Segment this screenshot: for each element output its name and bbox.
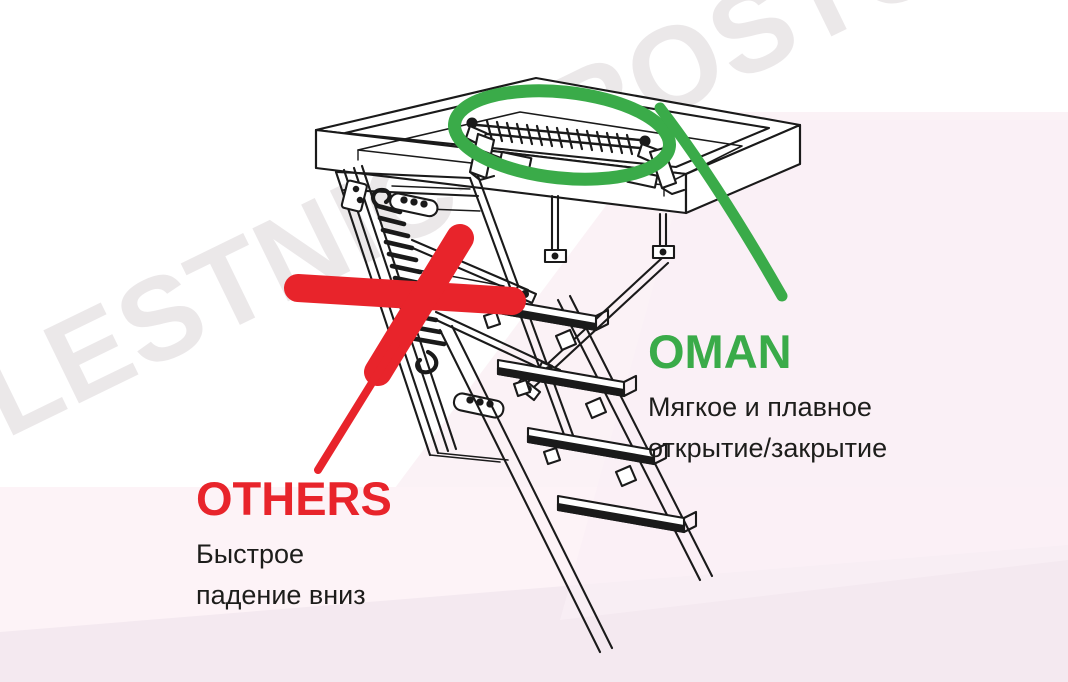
oman-label-block: OMAN Мягкое и плавное открытие/закрытие: [648, 325, 1008, 469]
oman-headline: OMAN: [648, 325, 1008, 379]
others-subtitle-line-1: Быстрое: [196, 534, 526, 575]
others-headline: OTHERS: [196, 472, 526, 526]
image-canvas: LESTNIC-PROSTO.RU: [0, 0, 1068, 682]
others-label-block: OTHERS Быстрое падение вниз: [196, 472, 526, 616]
oman-subtitle-line-2: открытие/закрытие: [648, 428, 1008, 469]
gas-spring-highlight-ellipse: [450, 81, 782, 296]
oman-subtitle-line-1: Мягкое и плавное: [648, 387, 1008, 428]
coil-spring-cross-out: [298, 238, 512, 470]
oman-subtitle: Мягкое и плавное открытие/закрытие: [648, 387, 1008, 469]
others-subtitle-line-2: падение вниз: [196, 575, 526, 616]
others-subtitle: Быстрое падение вниз: [196, 534, 526, 616]
